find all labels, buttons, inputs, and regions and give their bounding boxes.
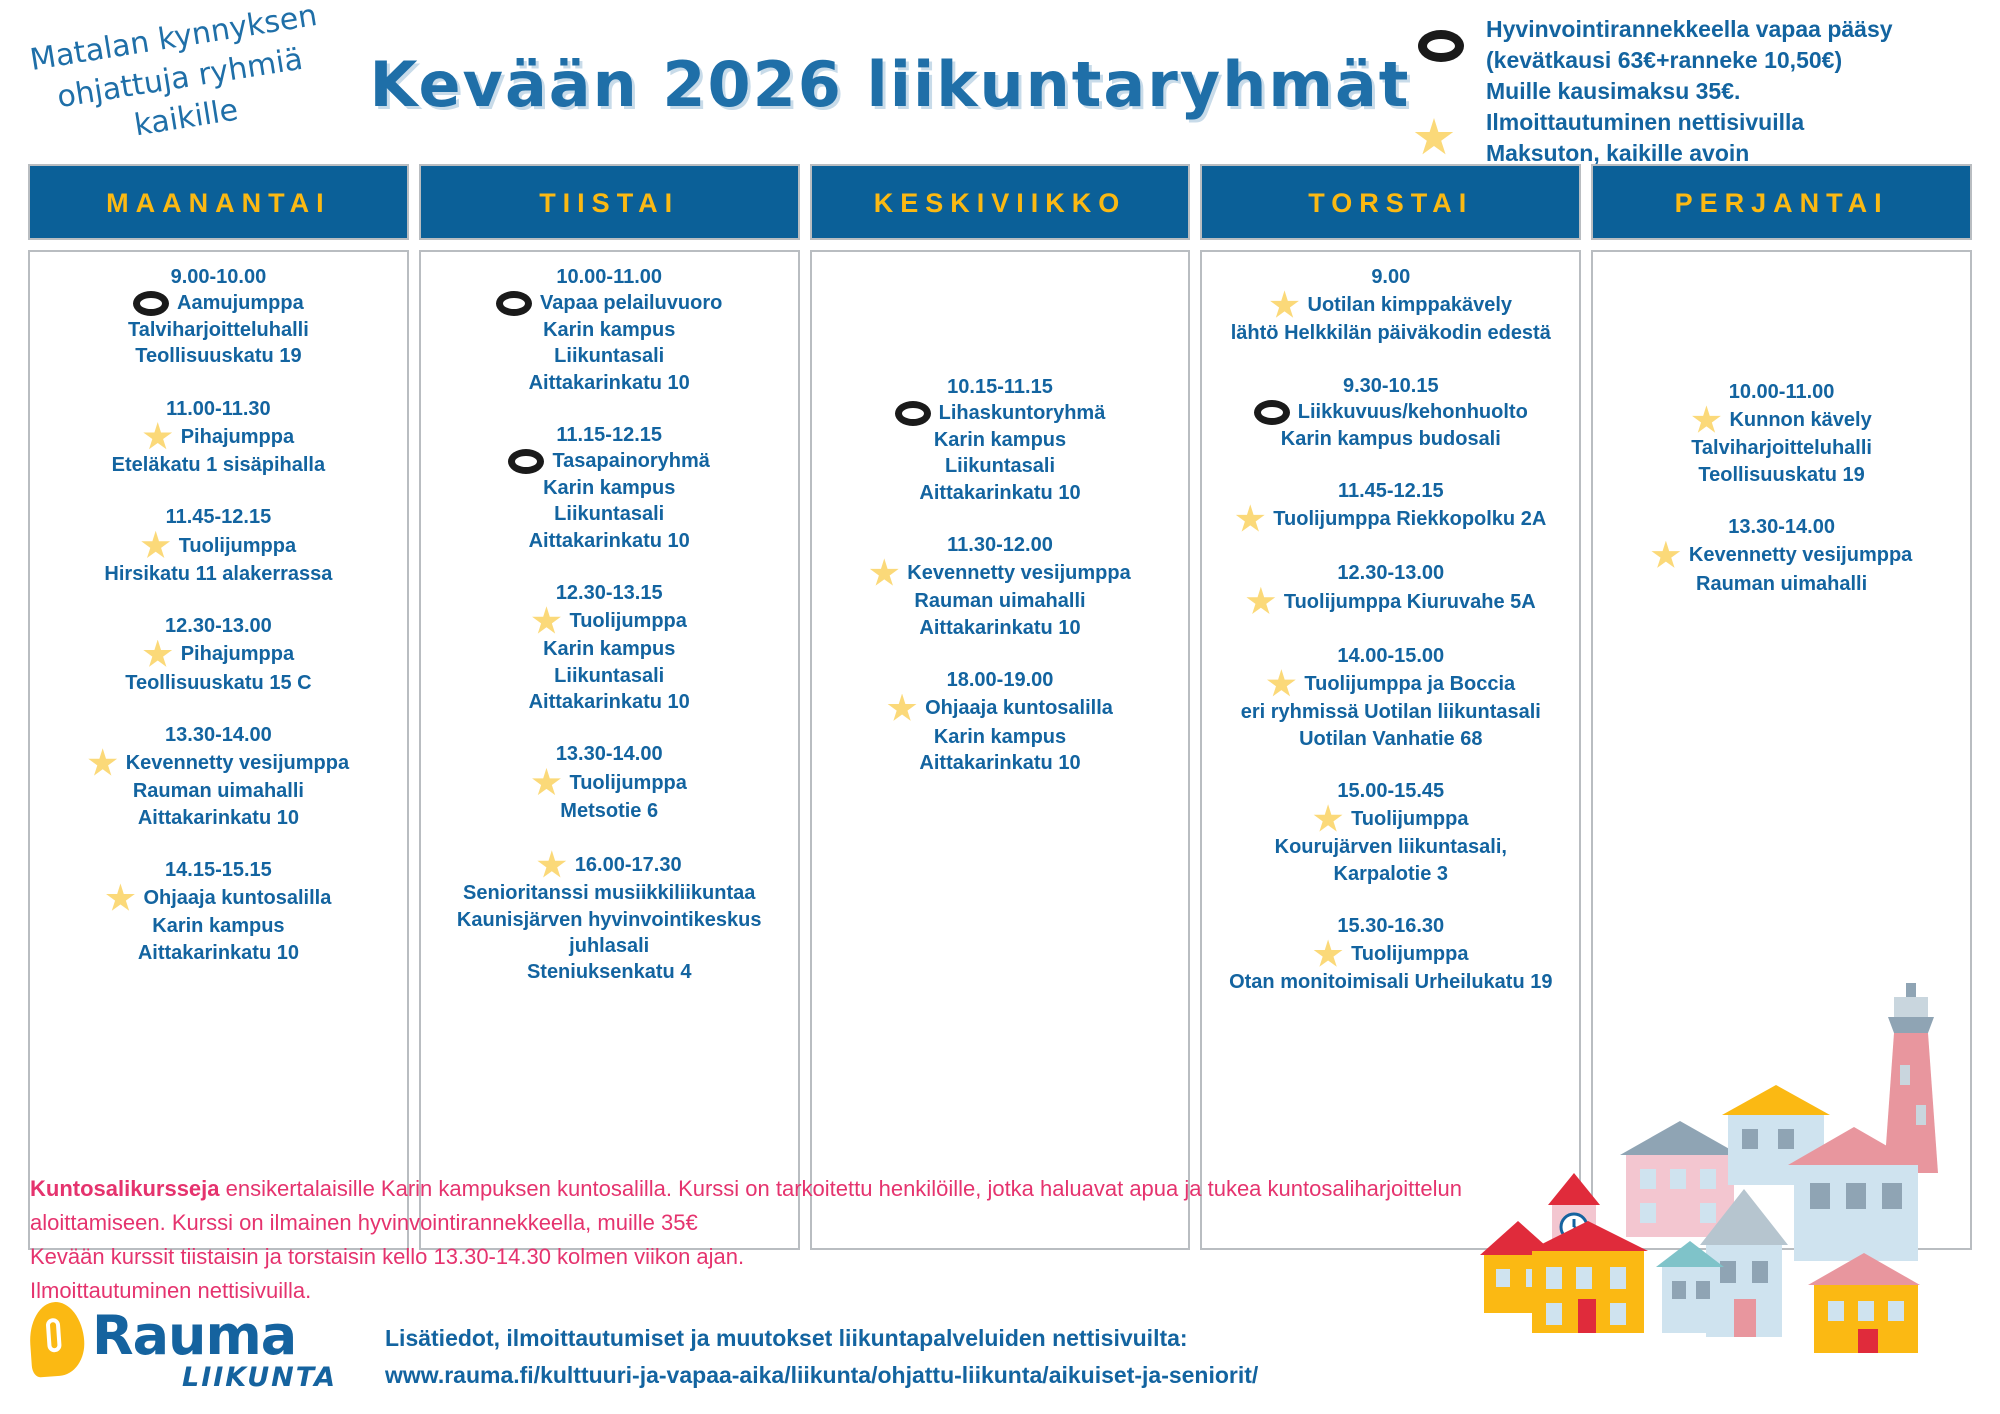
session-location: Karin kampus xyxy=(427,636,792,662)
star-icon xyxy=(143,640,173,670)
session-location: Steniuksenkatu 4 xyxy=(427,959,792,985)
page-tagline: Matalan kynnyksen ohjattuja ryhmiä kaiki… xyxy=(3,0,358,165)
session-location: Aittakarinkatu 10 xyxy=(36,805,401,831)
page-title: Kevään 2026 liikuntaryhmät xyxy=(360,48,1420,121)
kuntosalikurssit-note: Kuntosalikursseja ensikertalaisille Kari… xyxy=(30,1172,1480,1308)
legend-icon-column xyxy=(1400,8,1486,188)
session-location: Kaunisjärven hyvinvointikeskus xyxy=(427,907,792,933)
day-header-maanantai: MAANANTAI xyxy=(28,164,409,240)
star-icon xyxy=(1235,504,1265,534)
star-icon xyxy=(1313,804,1343,834)
legend-line-3: Muille kausimaksu 35€. xyxy=(1486,76,1893,107)
session-item[interactable]: 12.30-13.00Tuolijumppa Kiuruvahe 5A xyxy=(1208,560,1573,616)
session-item[interactable]: 11.30-12.00Kevennetty vesijumppaRauman u… xyxy=(818,532,1183,641)
wristband-icon xyxy=(133,291,169,316)
day-header-perjantai: PERJANTAI xyxy=(1591,164,1972,240)
session-title: Kevennetty vesijumppa xyxy=(126,750,349,776)
session-time: 13.30-14.00 xyxy=(36,722,401,748)
session-location: Talviharjoitteluhalli xyxy=(36,317,401,343)
session-location: Liikuntasali xyxy=(427,343,792,369)
session-location: Aittakarinkatu 10 xyxy=(818,480,1183,506)
session-title: Liikkuvuus/kehonhuolto xyxy=(1298,399,1528,425)
session-time: 10.15-11.15 xyxy=(818,374,1183,400)
star-icon xyxy=(1313,939,1343,969)
session-title: Kevennetty vesijumppa xyxy=(907,560,1130,586)
star-icon xyxy=(1414,118,1454,163)
session-title: Tuolijumppa xyxy=(1351,941,1468,967)
note-line-3: Kevään kurssit tiistaisin ja torstaisin … xyxy=(30,1240,1480,1274)
session-item[interactable]: 18.00-19.00Ohjaaja kuntosalillaKarin kam… xyxy=(818,667,1183,776)
star-icon xyxy=(1691,405,1721,435)
session-location: Aittakarinkatu 10 xyxy=(36,940,401,966)
session-time: 10.00-11.00 xyxy=(1599,379,1964,405)
logo-secondary-text: LIIKUNTA xyxy=(182,1362,337,1393)
session-time: 13.30-14.00 xyxy=(1599,514,1964,540)
session-time: 15.30-16.30 xyxy=(1208,913,1573,939)
star-icon xyxy=(537,850,567,880)
session-location: Karin kampus xyxy=(427,475,792,501)
session-title: Uotilan kimppakävely xyxy=(1308,292,1513,318)
rauma-logo-mark-icon xyxy=(27,1300,86,1378)
session-time: 14.15-15.15 xyxy=(36,857,401,883)
session-item[interactable]: 12.30-13.15TuolijumppaKarin kampusLiikun… xyxy=(427,580,792,716)
session-item[interactable]: 10.00-11.00Kunnon kävelyTalviharjoittelu… xyxy=(1599,379,1964,488)
session-title: Tuolijumppa Kiuruvahe 5A xyxy=(1284,589,1536,615)
star-icon xyxy=(1266,669,1296,699)
session-item[interactable]: 11.00-11.30PihajumppaEteläkatu 1 sisäpih… xyxy=(36,396,401,479)
session-location: Metsotie 6 xyxy=(427,798,792,824)
town-illustration xyxy=(1470,955,2000,1414)
session-location: Aittakarinkatu 10 xyxy=(427,689,792,715)
session-title: Tuolijumppa xyxy=(179,533,296,559)
footer-links-line-1: Lisätiedot, ilmoittautumiset ja muutokse… xyxy=(385,1320,1258,1357)
legend-line-4: Ilmoittautuminen nettisivuilla xyxy=(1486,107,1893,138)
session-title: Kevennetty vesijumppa xyxy=(1689,542,1912,568)
session-item[interactable]: 13.30-14.00Kevennetty vesijumppaRauman u… xyxy=(36,722,401,831)
session-location: Aittakarinkatu 10 xyxy=(818,750,1183,776)
session-item[interactable]: 10.15-11.15LihaskuntoryhmäKarin kampusLi… xyxy=(818,374,1183,506)
legend-line-2: (kevätkausi 63€+ranneke 10,50€) xyxy=(1486,45,1893,76)
day-header-tiistai: TIISTAI xyxy=(419,164,800,240)
session-location: Aittakarinkatu 10 xyxy=(427,370,792,396)
footer-links: Lisätiedot, ilmoittautumiset ja muutokse… xyxy=(385,1320,1258,1394)
session-item[interactable]: 14.00-15.00Tuolijumppa ja Bocciaeri ryhm… xyxy=(1208,643,1573,752)
session-title: Tasapainoryhmä xyxy=(552,448,709,474)
session-title: Ohjaaja kuntosalilla xyxy=(925,695,1113,721)
session-location: juhlasali xyxy=(427,933,792,959)
session-location: Rauman uimahalli xyxy=(818,588,1183,614)
session-location: Talviharjoitteluhalli xyxy=(1599,435,1964,461)
star-icon xyxy=(1270,290,1300,320)
note-bold: Kuntosalikursseja xyxy=(30,1176,220,1201)
session-title: Tuolijumppa ja Boccia xyxy=(1304,671,1515,697)
session-location: Aittakarinkatu 10 xyxy=(427,528,792,554)
session-item[interactable]: 11.45-12.15Tuolijumppa Riekkopolku 2A xyxy=(1208,478,1573,534)
star-icon xyxy=(88,748,118,778)
session-title: Lihaskuntoryhmä xyxy=(939,400,1106,426)
legend-text: Hyvinvointirannekkeella vapaa pääsy (kev… xyxy=(1486,8,1893,169)
session-time: 14.00-15.00 xyxy=(1208,643,1573,669)
session-title: Pihajumppa xyxy=(181,641,294,667)
session-item[interactable]: 12.30-13.00PihajumppaTeollisuuskatu 15 C xyxy=(36,613,401,696)
star-icon xyxy=(531,768,561,798)
session-time: 9.00-10.00 xyxy=(36,264,401,290)
session-item[interactable]: 11.45-12.15TuolijumppaHirsikatu 11 alake… xyxy=(36,504,401,587)
star-icon xyxy=(531,606,561,636)
session-title: Pihajumppa xyxy=(181,424,294,450)
session-location: Karin kampus xyxy=(427,317,792,343)
session-title: Aamujumppa xyxy=(177,290,304,316)
session-title: Tuolijumppa xyxy=(569,608,686,634)
session-time: 13.30-14.00 xyxy=(427,741,792,767)
star-icon xyxy=(887,694,917,724)
star-icon xyxy=(143,422,173,452)
wristband-icon xyxy=(496,291,532,316)
session-title: Vapaa pelailuvuoro xyxy=(540,290,722,316)
session-location: Karpalotie 3 xyxy=(1208,861,1573,887)
session-location: Rauman uimahalli xyxy=(1599,571,1964,597)
session-item[interactable]: 14.15-15.15Ohjaaja kuntosalillaKarin kam… xyxy=(36,857,401,966)
session-location: Karin kampus xyxy=(36,913,401,939)
wristband-icon xyxy=(1418,30,1464,67)
wristband-icon xyxy=(895,401,931,426)
rauma-liikunta-logo: Rauma LIIKUNTA xyxy=(30,1300,330,1400)
star-icon xyxy=(141,531,171,561)
session-location: Teollisuuskatu 15 C xyxy=(36,670,401,696)
session-location: Eteläkatu 1 sisäpihalla xyxy=(36,452,401,478)
star-icon xyxy=(105,883,135,913)
session-time: 11.30-12.00 xyxy=(818,532,1183,558)
day-sessions-maanantai: 9.00-10.00AamujumppaTalviharjoitteluhall… xyxy=(28,250,409,1250)
session-item[interactable]: 13.30-14.00TuolijumppaMetsotie 6 xyxy=(427,741,792,824)
session-title: Tuolijumppa xyxy=(569,770,686,796)
note-rest: ensikertalaisille Karin kampuksen kuntos… xyxy=(30,1176,1462,1235)
session-title: Ohjaaja kuntosalilla xyxy=(143,885,331,911)
session-item[interactable]: 11.15-12.15TasapainoryhmäKarin kampusLii… xyxy=(427,422,792,554)
day-header-torstai: TORSTAI xyxy=(1200,164,1581,240)
wristband-icon xyxy=(1254,400,1290,425)
session-time: 12.30-13.00 xyxy=(1208,560,1573,586)
session-location: Karin kampus xyxy=(818,724,1183,750)
session-time: 18.00-19.00 xyxy=(818,667,1183,693)
session-title: Tuolijumppa xyxy=(1351,806,1468,832)
session-location: Liikuntasali xyxy=(818,453,1183,479)
star-icon xyxy=(1246,587,1276,617)
session-item[interactable]: 9.00Uotilan kimppakävelylähtö Helkkilän … xyxy=(1208,264,1573,347)
session-time: 12.30-13.00 xyxy=(36,613,401,639)
session-time: 9.30-10.15 xyxy=(1208,373,1573,399)
session-time: 11.00-11.30 xyxy=(36,396,401,422)
session-item[interactable]: 9.00-10.00AamujumppaTalviharjoitteluhall… xyxy=(36,264,401,370)
legend: Hyvinvointirannekkeella vapaa pääsy (kev… xyxy=(1400,8,2000,188)
day-column-maanantai: MAANANTAI9.00-10.00AamujumppaTalviharjoi… xyxy=(28,164,409,1250)
session-location: Liikuntasali xyxy=(427,663,792,689)
session-item[interactable]: 9.30-10.15Liikkuvuus/kehonhuoltoKarin ka… xyxy=(1208,373,1573,452)
day-sessions-keskiviikko: 10.15-11.15LihaskuntoryhmäKarin kampusLi… xyxy=(810,250,1191,1250)
session-location: Liikuntasali xyxy=(427,501,792,527)
session-location: Uotilan Vanhatie 68 xyxy=(1208,726,1573,752)
session-location: Rauman uimahalli xyxy=(36,778,401,804)
session-time: 10.00-11.00 xyxy=(427,264,792,290)
session-item[interactable]: 13.30-14.00Kevennetty vesijumppaRauman u… xyxy=(1599,514,1964,597)
session-time: 16.00-17.30 xyxy=(575,852,682,878)
session-location: Teollisuuskatu 19 xyxy=(36,343,401,369)
day-header-keskiviikko: KESKIVIIKKO xyxy=(810,164,1191,240)
star-icon xyxy=(869,558,899,588)
session-location: Karin kampus xyxy=(818,427,1183,453)
session-location: Teollisuuskatu 19 xyxy=(1599,462,1964,488)
session-location: Senioritanssi musiikkiliikuntaa xyxy=(427,880,792,906)
session-time: 11.45-12.15 xyxy=(1208,478,1573,504)
logo-primary-text: Rauma xyxy=(92,1304,296,1367)
session-title: Tuolijumppa Riekkopolku 2A xyxy=(1273,506,1546,532)
day-sessions-tiistai: 10.00-11.00Vapaa pelailuvuoroKarin kampu… xyxy=(419,250,800,1250)
session-location: lähtö Helkkilän päiväkodin edestä xyxy=(1208,320,1573,346)
session-title: Kunnon kävely xyxy=(1729,407,1871,433)
session-time: 9.00 xyxy=(1208,264,1573,290)
session-item[interactable]: 10.00-11.00Vapaa pelailuvuoroKarin kampu… xyxy=(427,264,792,396)
wristband-icon xyxy=(508,449,544,474)
session-time: 15.00-15.45 xyxy=(1208,778,1573,804)
footer-website-link[interactable]: www.rauma.fi/kulttuuri-ja-vapaa-aika/lii… xyxy=(385,1357,1258,1394)
session-item[interactable]: 16.00-17.30Senioritanssi musiikkiliikunt… xyxy=(427,850,792,986)
star-icon xyxy=(1651,541,1681,571)
session-location: Karin kampus budosali xyxy=(1208,426,1573,452)
session-time: 11.45-12.15 xyxy=(36,504,401,530)
legend-line-1: Hyvinvointirannekkeella vapaa pääsy xyxy=(1486,14,1893,45)
session-location: Kourujärven liikuntasali, xyxy=(1208,834,1573,860)
day-column-tiistai: TIISTAI10.00-11.00Vapaa pelailuvuoroKari… xyxy=(419,164,800,1250)
day-column-keskiviikko: KESKIVIIKKO10.15-11.15LihaskuntoryhmäKar… xyxy=(810,164,1191,1250)
session-location: Aittakarinkatu 10 xyxy=(818,615,1183,641)
session-time: 12.30-13.15 xyxy=(427,580,792,606)
session-item[interactable]: 15.00-15.45TuolijumppaKourujärven liikun… xyxy=(1208,778,1573,887)
session-location: eri ryhmissä Uotilan liikuntasali xyxy=(1208,699,1573,725)
session-location: Hirsikatu 11 alakerrassa xyxy=(36,561,401,587)
session-time: 11.15-12.15 xyxy=(427,422,792,448)
